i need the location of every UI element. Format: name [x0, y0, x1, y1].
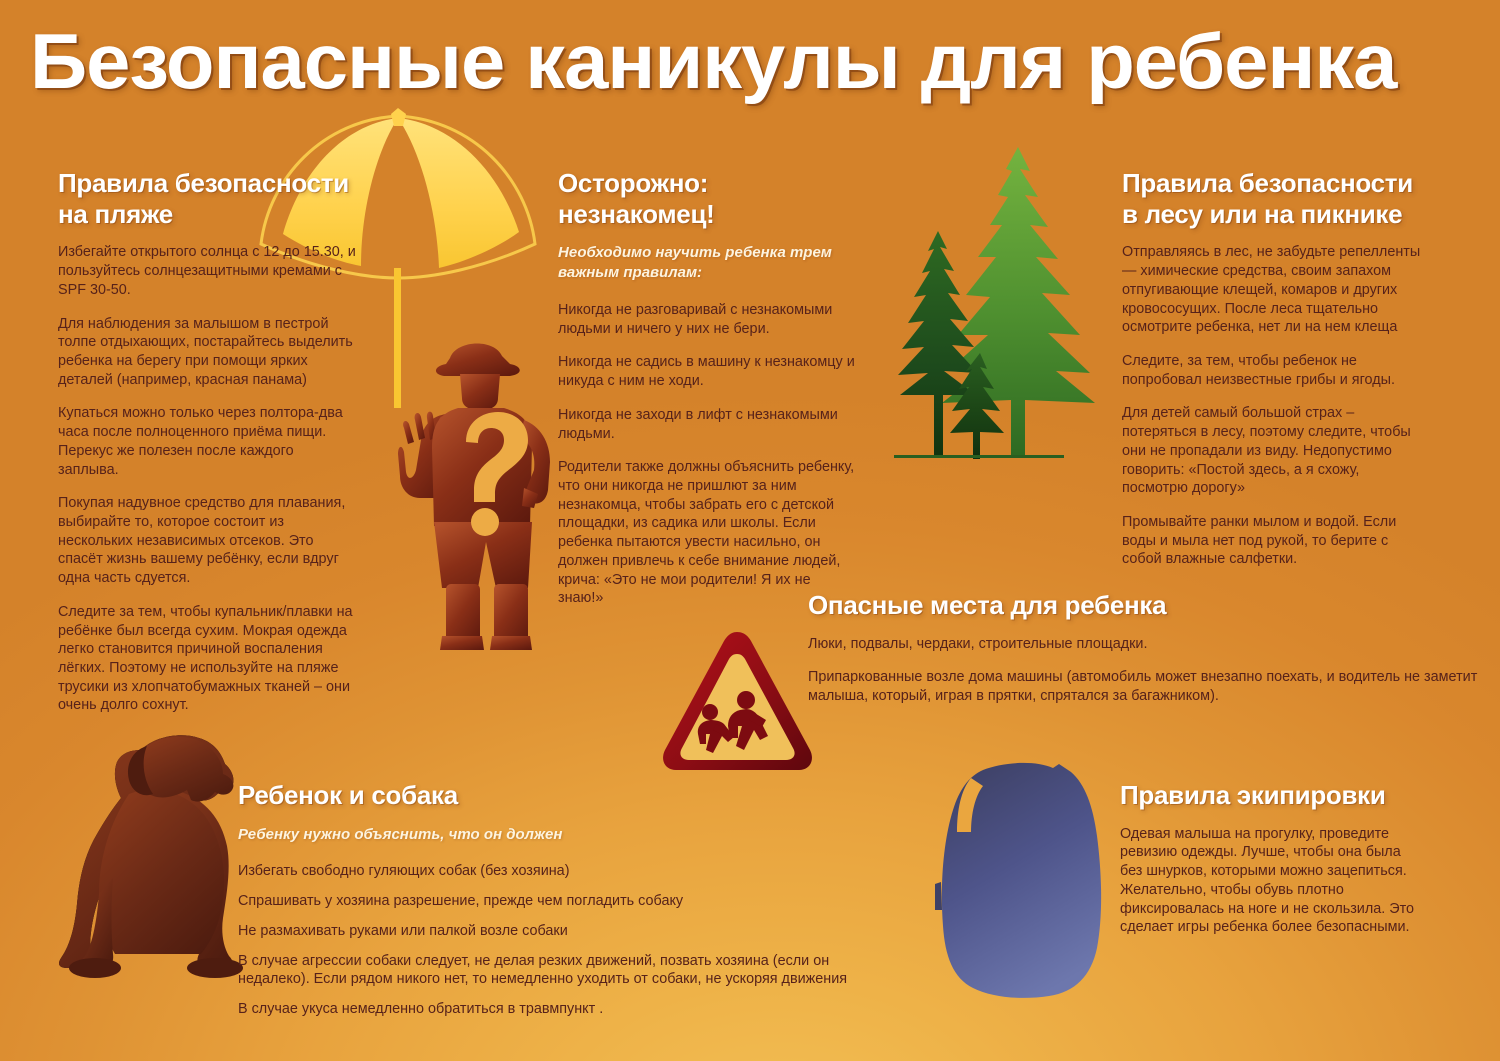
children-crossing-warning-sign-icon	[660, 628, 815, 776]
dog-paragraph-2: Спрашивать у хозяина разрешение, прежде …	[238, 892, 883, 911]
section-heading-forest: Правила безопасности в лесу или на пикни…	[1122, 168, 1422, 229]
danger-paragraph-1: Люки, подвалы, чердаки, строительные пло…	[808, 635, 1478, 654]
section-dangerous-places: Опасные места для ребенка Люки, подвалы,…	[808, 590, 1478, 706]
dog-paragraph-5: В случае укуса немедленно обратиться в т…	[238, 1000, 883, 1019]
dog-paragraph-1: Избегать свободно гуляющих собак (без хо…	[238, 862, 883, 881]
beach-paragraph-1: Избегайте открытого солнца с 12 до 15.30…	[58, 243, 358, 299]
forest-paragraph-3: Для детей самый большой страх – потерять…	[1122, 404, 1422, 498]
section-heading-danger: Опасные места для ребенка	[808, 590, 1478, 621]
forest-paragraph-4: Промывайте ранки мылом и водой. Если вод…	[1122, 513, 1422, 569]
backpack-silhouette-icon	[925, 758, 1125, 1013]
dog-subtitle: Ребенку нужно объяснить, что он должен	[238, 825, 883, 845]
section-forest-safety: Правила безопасности в лесу или на пикни…	[1122, 168, 1422, 569]
page-title: Безопасные каникулы для ребенка	[30, 22, 1356, 100]
beach-paragraph-3: Купаться можно только через полтора-два …	[58, 404, 358, 479]
section-heading-stranger: Осторожно: незнакомец!	[558, 168, 858, 229]
gear-paragraph-1: Одевая малыша на прогулку, проведите рев…	[1120, 825, 1420, 937]
section-child-and-dog: Ребенок и собака Ребенку нужно объяснить…	[238, 780, 883, 1019]
forest-paragraph-2: Следите, за тем, чтобы ребенок не попроб…	[1122, 352, 1422, 389]
beach-paragraph-2: Для наблюдения за малышом в пестрой толп…	[58, 315, 358, 390]
section-stranger-danger: Осторожно: незнакомец! Необходимо научит…	[558, 168, 858, 608]
section-gear-rules: Правила экипировки Одевая малыша на прог…	[1120, 780, 1420, 937]
stranger-paragraph-1: Никогда не разговаривай с незнакомыми лю…	[558, 301, 858, 338]
section-heading-beach: Правила безопасности на пляже	[58, 168, 358, 229]
stranger-paragraph-2: Никогда не садись в машину к незнакомцу …	[558, 353, 858, 390]
danger-paragraph-2: Припаркованные возле дома машины (автомо…	[808, 668, 1478, 705]
forest-paragraph-1: Отправляясь в лес, не забудьте репеллент…	[1122, 243, 1422, 337]
poster-canvas: Безопасные каникулы для ребенка Правила …	[0, 0, 1500, 1061]
section-beach-safety: Правила безопасности на пляже Избегайте …	[58, 168, 358, 715]
dog-paragraph-4: В случае агрессии собаки следует, не дел…	[238, 952, 883, 989]
section-heading-dog: Ребенок и собака	[238, 780, 883, 811]
stranger-paragraph-3: Никогда не заходи в лифт с незнакомыми л…	[558, 406, 858, 443]
stranger-subtitle: Необходимо научить ребенка трем важным п…	[558, 243, 858, 283]
stranger-paragraph-4: Родители также должны объяснить ребенку,…	[558, 458, 858, 608]
pine-trees-icon	[880, 145, 1130, 475]
dog-paragraph-3: Не размахивать руками или палкой возле с…	[238, 922, 883, 941]
beach-paragraph-4: Покупая надувное средство для плавания, …	[58, 494, 358, 588]
section-heading-gear: Правила экипировки	[1120, 780, 1420, 811]
beach-paragraph-5: Следите за тем, чтобы купальник/плавки н…	[58, 603, 358, 715]
